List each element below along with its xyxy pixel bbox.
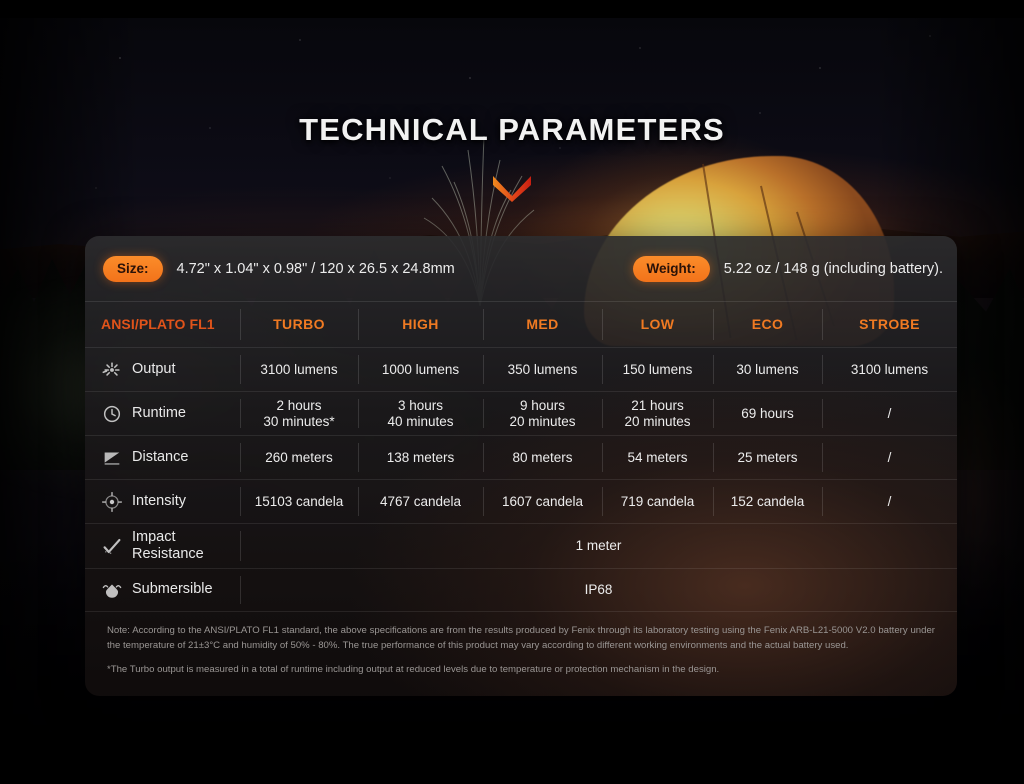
table-row: Output 3100 lumens 1000 lumens 350 lumen… [85, 347, 957, 391]
cell-runtime-strobe: / [822, 392, 957, 435]
crosshair-intensity-icon [101, 491, 123, 513]
cell-intensity-low: 719 candela [602, 480, 713, 523]
cell-distance-med: 80 meters [483, 436, 602, 479]
column-header-turbo: TURBO [240, 302, 358, 347]
table-row: Distance 260 meters 138 meters 80 meters… [85, 435, 957, 479]
size-label-pill: Size: [103, 256, 163, 282]
cell-runtime-med: 9 hours 20 minutes [483, 392, 602, 435]
product-spec-page: TECHNICAL PARAMETERS Size: 4.72" x 1.04"… [0, 0, 1024, 784]
row-label-text: Intensity [132, 493, 186, 510]
cell-output-low: 150 lumens [602, 348, 713, 391]
light-burst-icon [101, 359, 123, 381]
cell-distance-low: 54 meters [602, 436, 713, 479]
row-label-text: Runtime [132, 405, 186, 422]
column-header-high: HIGH [358, 302, 483, 347]
footnotes: Note: According to the ANSI/PLATO FL1 st… [85, 612, 957, 678]
cell-intensity-strobe: / [822, 480, 957, 523]
cell-intensity-high: 4767 candela [358, 480, 483, 523]
row-label-text: Submersible [132, 581, 213, 598]
weight-label-pill: Weight: [633, 256, 710, 282]
row-label-text: Impact Resistance [132, 529, 204, 563]
page-title: TECHNICAL PARAMETERS [299, 112, 725, 148]
column-header-med: MED [483, 302, 602, 347]
row-label-impact-resistance: Impact Resistance [85, 524, 240, 568]
row-label-intensity: Intensity [85, 480, 240, 523]
cell-distance-turbo: 260 meters [240, 436, 358, 479]
cell-output-turbo: 3100 lumens [240, 348, 358, 391]
row-label-distance: Distance [85, 436, 240, 479]
column-header-standard: ANSI/PLATO FL1 [85, 302, 240, 347]
table-header-row: ANSI/PLATO FL1 TURBO HIGH MED LOW ECO ST… [85, 301, 957, 347]
cell-runtime-high: 3 hours 40 minutes [358, 392, 483, 435]
column-header-strobe: STROBE [822, 302, 957, 347]
footnote-secondary: *The Turbo output is measured in a total… [107, 663, 935, 678]
table-row: Runtime 2 hours 30 minutes* 3 hours 40 m… [85, 391, 957, 435]
size-value: 4.72" x 1.04" x 0.98" / 120 x 26.5 x 24.… [177, 261, 455, 277]
cell-intensity-eco: 152 candela [713, 480, 822, 523]
beam-distance-icon [101, 447, 123, 469]
cell-intensity-turbo: 15103 candela [240, 480, 358, 523]
cell-distance-high: 138 meters [358, 436, 483, 479]
cell-output-eco: 30 lumens [713, 348, 822, 391]
cell-distance-strobe: / [822, 436, 957, 479]
cell-runtime-low: 21 hours 20 minutes [602, 392, 713, 435]
table-row: Submersible IP68 [85, 568, 957, 612]
chevron-down-icon [490, 172, 534, 202]
row-label-text: Distance [132, 449, 188, 466]
cell-output-strobe: 3100 lumens [822, 348, 957, 391]
water-drop-icon [101, 579, 123, 601]
specifications-table: ANSI/PLATO FL1 TURBO HIGH MED LOW ECO ST… [85, 301, 957, 612]
cell-output-high: 1000 lumens [358, 348, 483, 391]
row-label-text: Output [132, 361, 176, 378]
technical-parameters-panel: Size: 4.72" x 1.04" x 0.98" / 120 x 26.5… [85, 236, 957, 696]
summary-strip: Size: 4.72" x 1.04" x 0.98" / 120 x 26.5… [85, 236, 957, 301]
row-label-runtime: Runtime [85, 392, 240, 435]
scroll-chevron-wrap [0, 172, 1024, 207]
cell-runtime-eco: 69 hours [713, 392, 822, 435]
cell-intensity-med: 1607 candela [483, 480, 602, 523]
weight-value: 5.22 oz / 148 g (including battery). [724, 261, 943, 277]
table-row: Intensity 15103 candela 4767 candela 160… [85, 479, 957, 523]
page-heading: TECHNICAL PARAMETERS [0, 112, 1024, 148]
column-header-eco: ECO [713, 302, 822, 347]
size-group: Size: 4.72" x 1.04" x 0.98" / 120 x 26.5… [103, 256, 455, 282]
cell-impact-resistance-value: 1 meter [240, 524, 957, 568]
row-label-submersible: Submersible [85, 569, 240, 611]
footnote-primary: Note: According to the ANSI/PLATO FL1 st… [107, 624, 935, 653]
table-row: Impact Resistance 1 meter [85, 523, 957, 568]
cell-distance-eco: 25 meters [713, 436, 822, 479]
impact-check-icon [101, 535, 123, 557]
cell-runtime-turbo: 2 hours 30 minutes* [240, 392, 358, 435]
column-header-low: LOW [602, 302, 713, 347]
row-label-output: Output [85, 348, 240, 391]
clock-icon [101, 403, 123, 425]
weight-group: Weight: 5.22 oz / 148 g (including batte… [633, 256, 944, 282]
cell-submersible-value: IP68 [240, 569, 957, 611]
cell-output-med: 350 lumens [483, 348, 602, 391]
